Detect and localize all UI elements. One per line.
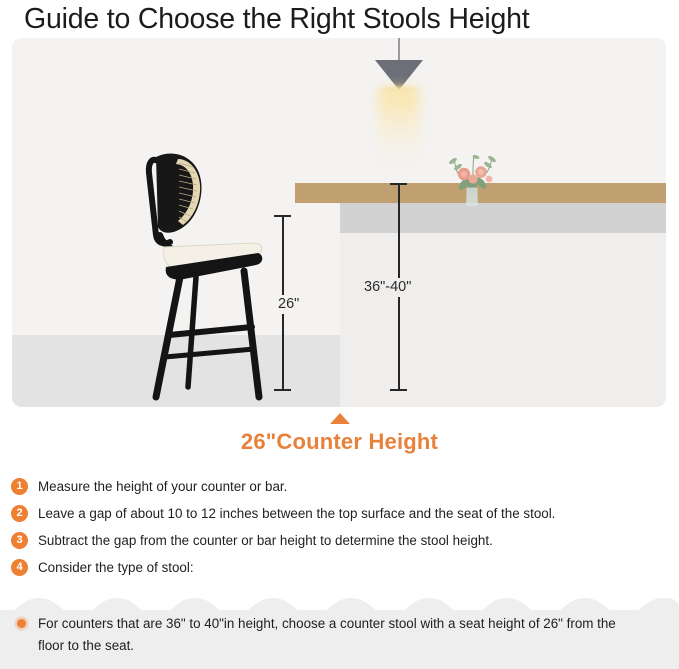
- step-text: Leave a gap of about 10 to 12 inches bet…: [38, 504, 555, 523]
- counter-dim-label: 36"-40": [360, 278, 415, 297]
- counter-stool-icon: [120, 143, 280, 407]
- steps-list: 1 Measure the height of your counter or …: [11, 477, 671, 585]
- list-item: 3 Subtract the gap from the counter or b…: [11, 531, 671, 557]
- step-number-badge: 2: [11, 505, 28, 522]
- step-text: Measure the height of your counter or ba…: [38, 477, 287, 496]
- seat-dim-bottom-cap: [274, 389, 291, 391]
- seat-dim-label: 26": [274, 295, 303, 314]
- lamp-light-beam: [378, 88, 420, 172]
- cabinet-block: [340, 203, 666, 407]
- dot-bullet-icon: [17, 619, 26, 628]
- flower-vase-icon: [440, 146, 504, 208]
- step-text: Consider the type of stool:: [38, 558, 194, 577]
- list-item: 1 Measure the height of your counter or …: [11, 477, 671, 503]
- counter-height-caption: 26"Counter Height: [0, 429, 679, 455]
- step-number-badge: 3: [11, 532, 28, 549]
- infographic-page: Guide to Choose the Right Stools Height: [0, 0, 679, 669]
- step-text: Subtract the gap from the counter or bar…: [38, 531, 493, 550]
- page-title: Guide to Choose the Right Stools Height: [24, 0, 664, 38]
- counter-dim-bottom-cap: [390, 389, 407, 391]
- pendant-lamp-icon: [375, 60, 423, 90]
- triangle-up-icon: [330, 413, 350, 424]
- list-item: 4 Consider the type of stool:: [11, 558, 671, 584]
- note-text: For counters that are 36" to 40"in heigh…: [38, 613, 638, 657]
- step-number-badge: 4: [11, 559, 28, 576]
- step-number-badge: 1: [11, 478, 28, 495]
- list-item: 2 Leave a gap of about 10 to 12 inches b…: [11, 504, 671, 530]
- kitchen-scene-illustration: 26" 36"-40": [12, 38, 666, 407]
